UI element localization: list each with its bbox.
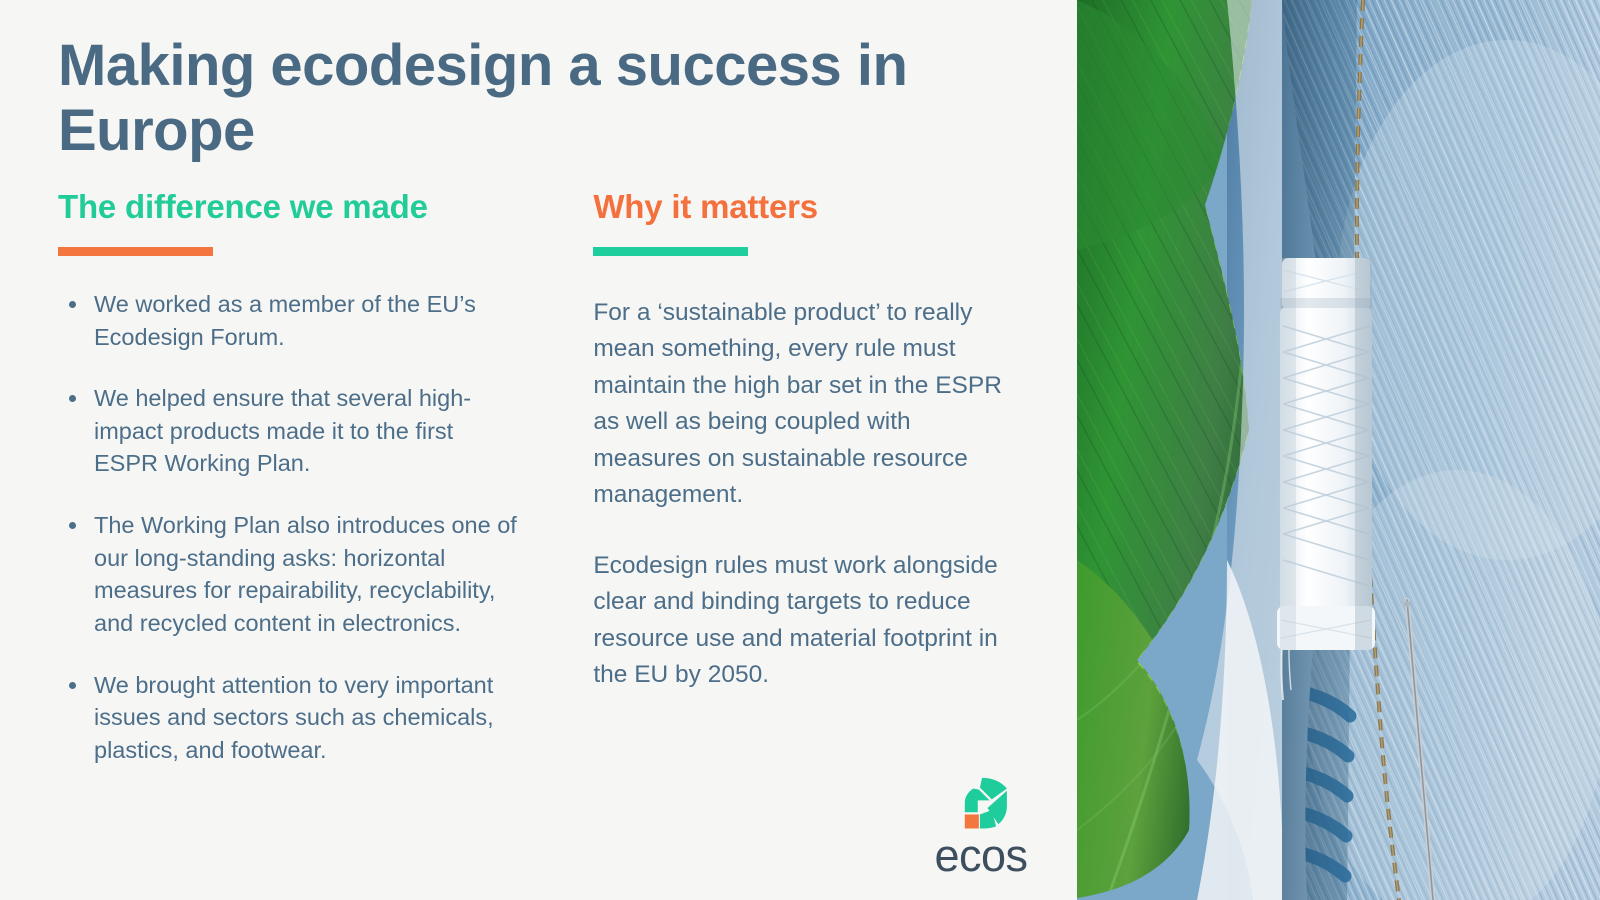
- bullet-dot-icon: [69, 395, 76, 402]
- slide: Making ecodesign a success in Europe The…: [0, 0, 1600, 900]
- list-item-text: We worked as a member of the EU’s Ecodes…: [94, 291, 476, 350]
- ecos-logo: ecos: [921, 774, 1041, 878]
- page-title: Making ecodesign a success in Europe: [58, 34, 1031, 164]
- column-why-it-matters: Why it matters For a ‘sustainable produc…: [593, 188, 1031, 767]
- column-difference-we-made: The difference we made We worked as a me…: [58, 188, 593, 767]
- section-heading-right: Why it matters: [593, 188, 1031, 226]
- ecos-leaf-mark-icon: [954, 774, 1008, 829]
- section-rule-left: [58, 247, 213, 256]
- bullet-dot-icon: [69, 301, 76, 308]
- achievements-list: We worked as a member of the EU’s Ecodes…: [58, 288, 551, 767]
- paragraph-one: For a ‘sustainable product’ to really me…: [593, 295, 1018, 514]
- list-item: We helped ensure that several high-impac…: [58, 382, 520, 480]
- two-column-layout: The difference we made We worked as a me…: [58, 188, 1031, 767]
- list-item: We brought attention to very important i…: [58, 669, 520, 767]
- list-item: We worked as a member of the EU’s Ecodes…: [58, 288, 520, 353]
- list-item-text: The Working Plan also introduces one of …: [94, 512, 517, 636]
- list-item-text: We helped ensure that several high-impac…: [94, 385, 471, 476]
- bullet-dot-icon: [69, 522, 76, 529]
- bullet-dot-icon: [69, 682, 76, 689]
- denim-leaves-thread-illustration: [1077, 0, 1600, 900]
- ecos-wordmark: ecos: [921, 833, 1041, 878]
- list-item-text: We brought attention to very important i…: [94, 672, 494, 763]
- list-item: The Working Plan also introduces one of …: [58, 509, 520, 640]
- section-rule-right: [593, 247, 748, 256]
- paragraph-two: Ecodesign rules must work alongside clea…: [593, 548, 1018, 694]
- hero-photo: [1077, 0, 1600, 900]
- section-heading-left: The difference we made: [58, 188, 551, 226]
- content-panel: Making ecodesign a success in Europe The…: [0, 0, 1077, 900]
